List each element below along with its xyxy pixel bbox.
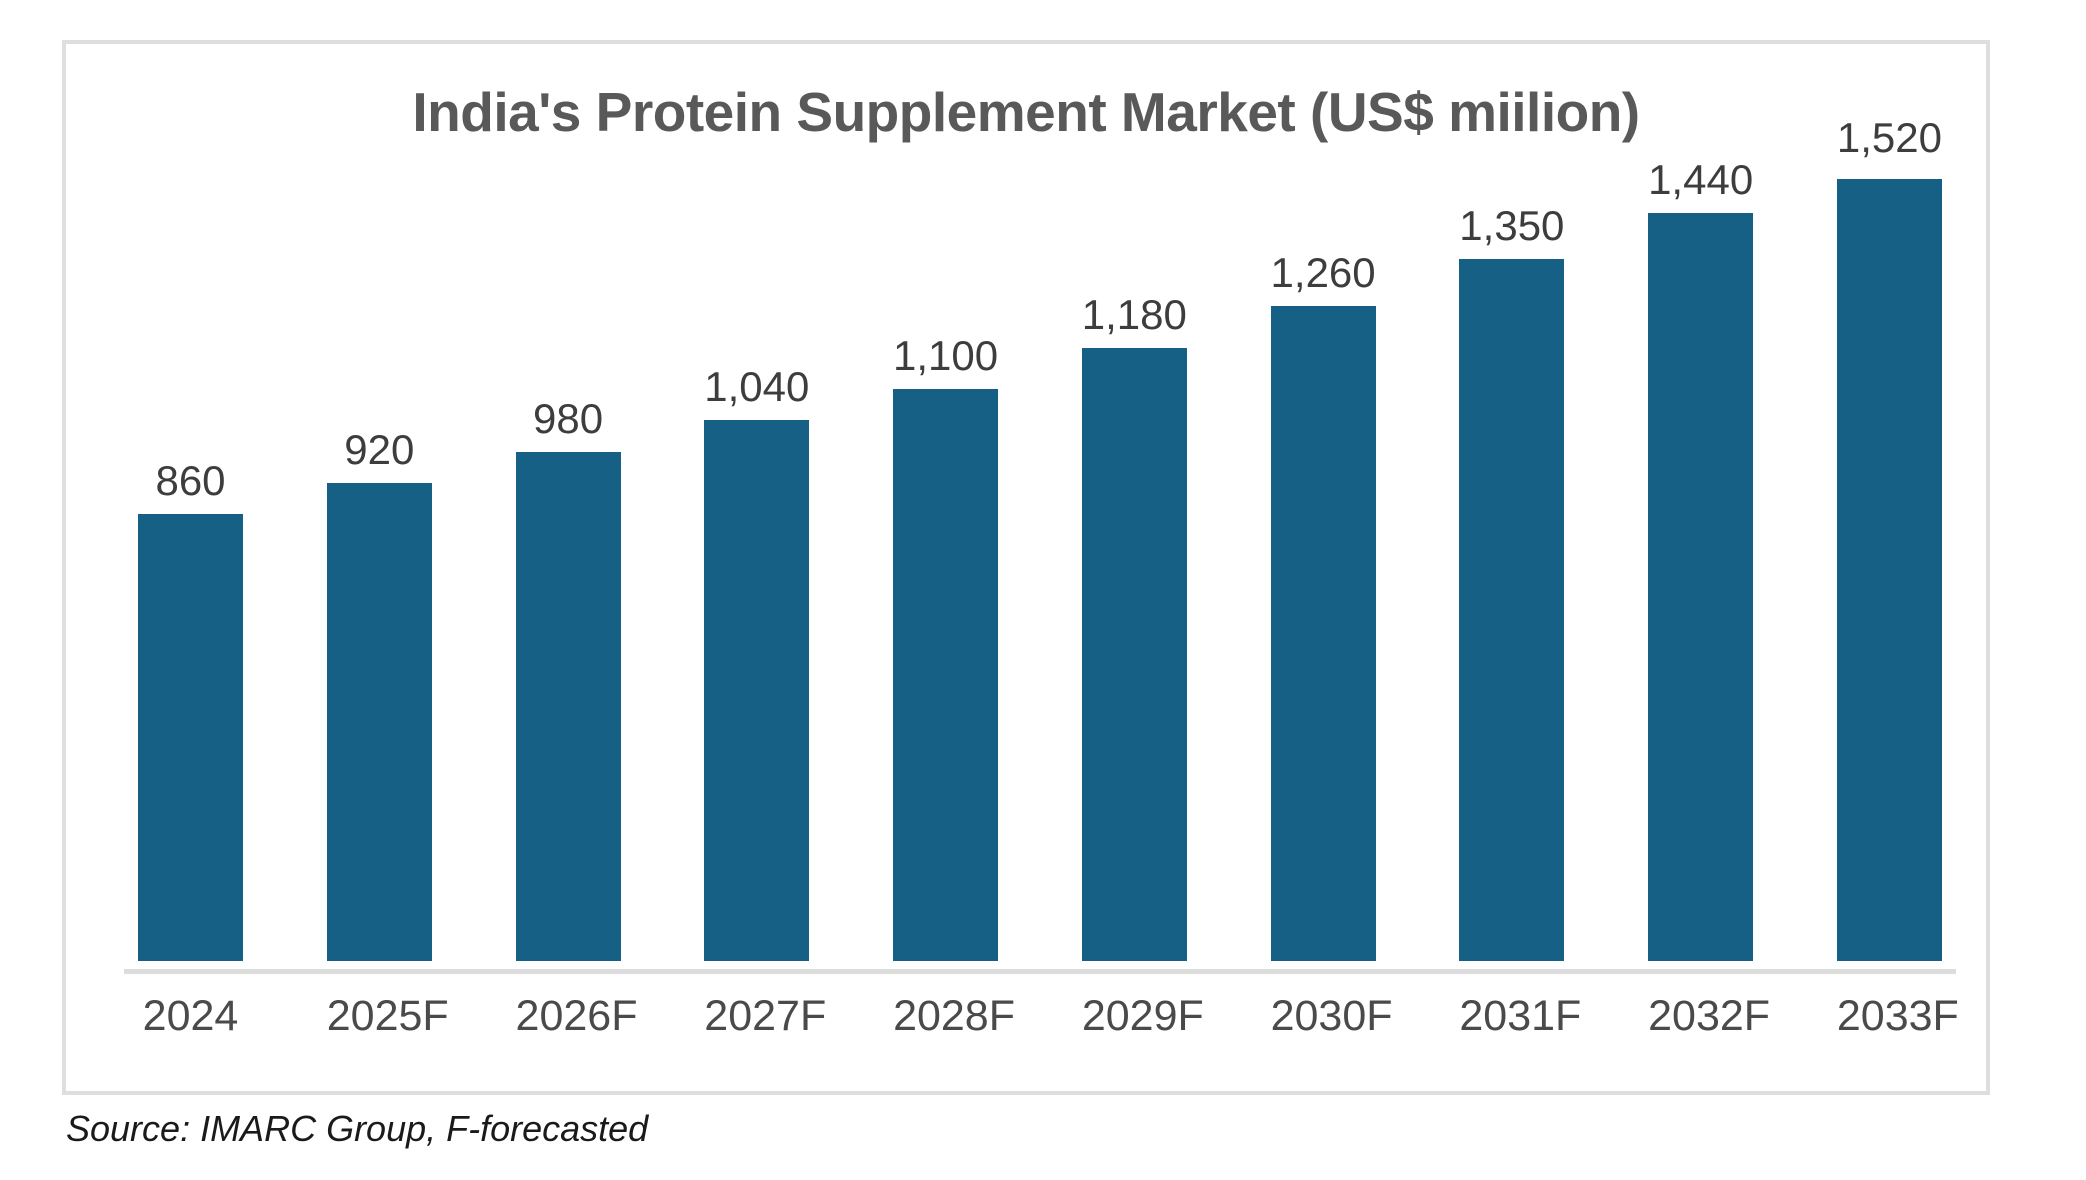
x-axis-category-labels: 20242025F2026F2027F2028F2029F2030F2031F2… <box>124 992 1956 1041</box>
bar-series: 8609209801,0401,1001,1801,2601,3501,4401… <box>124 179 1956 961</box>
bar-value-label: 1,260 <box>1271 252 1376 294</box>
bar-group: 860 <box>138 179 243 961</box>
bar[interactable] <box>138 514 243 961</box>
bar-value-label: 1,440 <box>1648 159 1753 201</box>
bar[interactable] <box>704 420 809 961</box>
bar-value-label: 980 <box>533 398 603 440</box>
bar[interactable] <box>1082 348 1187 961</box>
chart-frame: India's Protein Supplement Market (US$ m… <box>62 40 1990 1095</box>
chart-title: India's Protein Supplement Market (US$ m… <box>66 80 1986 144</box>
chart-page: India's Protein Supplement Market (US$ m… <box>0 0 2086 1180</box>
bar[interactable] <box>1271 306 1376 961</box>
x-axis-line <box>124 969 1956 974</box>
bar-value-label: 920 <box>344 429 414 471</box>
bar-group: 1,260 <box>1271 179 1376 961</box>
x-axis-label: 2026F <box>516 992 621 1041</box>
bar-value-label: 1,040 <box>704 366 809 408</box>
bar[interactable] <box>1837 179 1942 961</box>
bar-value-label: 1,100 <box>893 335 998 377</box>
bar-group: 920 <box>327 179 432 961</box>
bar-group: 1,100 <box>893 179 998 961</box>
bar-group: 1,040 <box>704 179 809 961</box>
bar-value-label: 1,520 <box>1837 117 1942 159</box>
bar[interactable] <box>327 483 432 961</box>
bar[interactable] <box>1648 213 1753 961</box>
x-axis-label: 2033F <box>1837 992 1942 1041</box>
x-axis-label: 2030F <box>1271 992 1376 1041</box>
bar-group: 1,440 <box>1648 179 1753 961</box>
x-axis-label: 2032F <box>1648 992 1753 1041</box>
bar-value-label: 860 <box>155 460 225 502</box>
x-axis-label: 2028F <box>893 992 998 1041</box>
bar-value-label: 1,180 <box>1082 294 1187 336</box>
x-axis-label: 2031F <box>1459 992 1564 1041</box>
x-axis-label: 2027F <box>704 992 809 1041</box>
bar-group: 1,520 <box>1837 179 1942 961</box>
plot-area: 8609209801,0401,1001,1801,2601,3501,4401… <box>124 179 1956 961</box>
bar-group: 1,350 <box>1459 179 1564 961</box>
source-note: Source: IMARC Group, F-forecasted <box>66 1108 648 1150</box>
bar-group: 980 <box>516 179 621 961</box>
x-axis-label: 2025F <box>327 992 432 1041</box>
bar[interactable] <box>893 389 998 961</box>
bar-group: 1,180 <box>1082 179 1187 961</box>
x-axis-label: 2029F <box>1082 992 1187 1041</box>
bar[interactable] <box>1459 259 1564 961</box>
bar[interactable] <box>516 452 621 961</box>
x-axis-label: 2024 <box>138 992 243 1041</box>
bar-value-label: 1,350 <box>1459 205 1564 247</box>
